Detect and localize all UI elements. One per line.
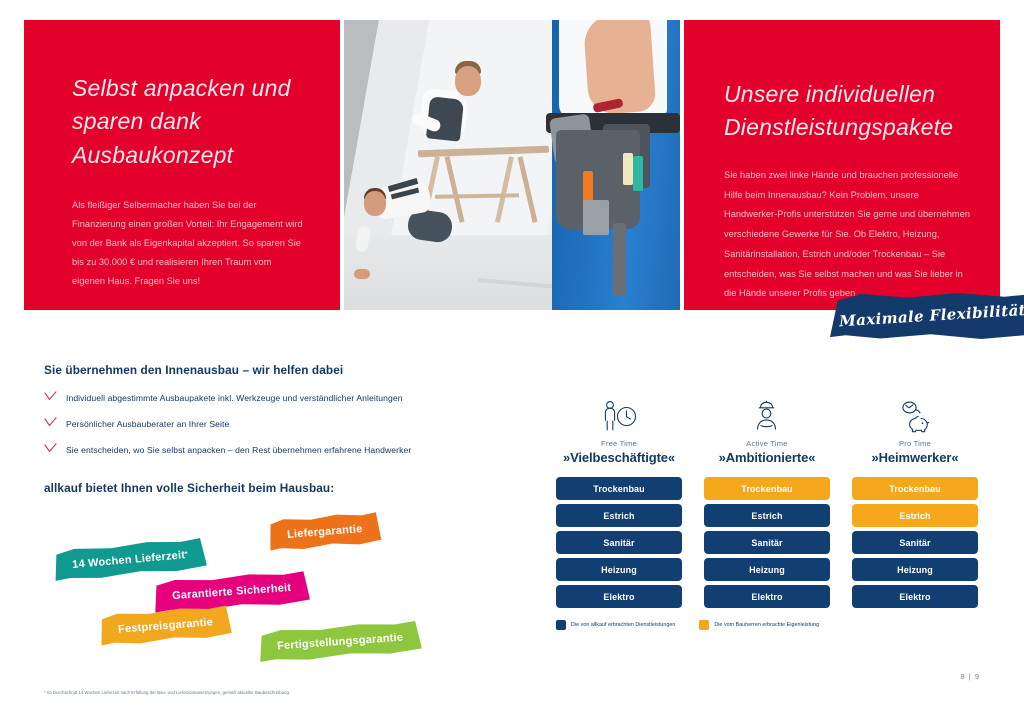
hero-right-title: Unsere individuellen Dienstleistungspake…	[724, 78, 974, 145]
package-row-sanitaer: Sanitär	[852, 531, 978, 554]
check-icon	[44, 391, 66, 402]
badge-footnote-marker: *	[185, 551, 189, 558]
package-row-trockenbau: Trockenbau	[556, 477, 682, 500]
list-item: Persönlicher Ausbauberater an Ihrer Seit…	[44, 418, 474, 431]
legend-item-eigenleistung: Die vom Bauherren erbrachte Eigenleistun…	[699, 620, 819, 630]
piggy-bank-icon	[852, 392, 978, 434]
page-number: 8 | 9	[961, 672, 980, 681]
package-column-ambitionierte: Active Time »Ambitionierte« Trockenbau E…	[704, 392, 830, 612]
photo-tool-pliers	[583, 200, 610, 235]
package-row-sanitaer: Sanitär	[704, 531, 830, 554]
badge-fertigstellungsgarantie: Fertigstellungsgarantie	[258, 619, 422, 663]
package-column-vielbeschaeftigte: Free Time »Vielbeschäftigte« Trockenbau …	[556, 392, 682, 612]
package-row-sanitaer: Sanitär	[556, 531, 682, 554]
package-title: »Ambitionierte«	[704, 450, 830, 465]
check-icon	[44, 443, 66, 454]
package-row-estrich: Estrich	[852, 504, 978, 527]
package-row-heizung: Heizung	[704, 558, 830, 581]
hero-panel-right: Unsere individuellen Dienstleistungspake…	[684, 20, 1000, 310]
hero-right-body: Sie haben zwei linke Hände und brauchen …	[724, 166, 974, 304]
badge-garantierte-sicherheit: Garantierte Sicherheit	[153, 570, 310, 615]
flexibility-banner: Maximale Flexibilität	[830, 292, 1024, 339]
hero-band: Selbst anpacken und sparen dank Ausbauko…	[24, 20, 1000, 310]
list-item: Individuell abgestimmte Ausbaupakete ink…	[44, 392, 474, 405]
check-icon	[44, 417, 66, 428]
photo-worker-kneeling-head	[364, 191, 386, 216]
badge-lieferzeit-label: 14 Wochen Lieferzeit	[72, 549, 186, 571]
package-subtitle: Active Time	[704, 439, 830, 448]
list-item-label: Individuell abgestimmte Ausbaupakete ink…	[66, 392, 403, 405]
list-item: Sie entscheiden, wo Sie selbst anpacken …	[44, 444, 474, 457]
list-item-label: Persönlicher Ausbauberater an Ihrer Seit…	[66, 418, 229, 431]
package-row-heizung: Heizung	[852, 558, 978, 581]
package-title: »Heimwerker«	[852, 450, 978, 465]
hero-photo	[344, 20, 680, 310]
section-heading-sicherheit: allkauf bietet Ihnen volle Sicherheit be…	[44, 481, 334, 495]
brochure-page: Selbst anpacken und sparen dank Ausbauko…	[0, 0, 1024, 725]
legend-label: Die vom Bauherren erbrachte Eigenleistun…	[714, 622, 819, 628]
hero-left-body: Als fleißiger Selbermacher haben Sie bei…	[72, 196, 306, 291]
badge-lieferzeit: 14 Wochen Lieferzeit*	[53, 536, 207, 582]
package-row-trockenbau: Trockenbau	[852, 477, 978, 500]
legend-swatch-blue	[556, 620, 566, 630]
photo-tool-hammer	[613, 223, 626, 296]
photo-tool-beige	[623, 153, 633, 185]
person-helmet-icon	[704, 392, 830, 434]
package-rows: Trockenbau Estrich Sanitär Heizung Elekt…	[556, 477, 682, 608]
package-row-elektro: Elektro	[556, 585, 682, 608]
package-row-estrich: Estrich	[556, 504, 682, 527]
photo-worker-kneeling-hand	[354, 269, 370, 279]
package-subtitle: Free Time	[556, 439, 682, 448]
package-subtitle: Pro Time	[852, 439, 978, 448]
package-title: »Vielbeschäftigte«	[556, 450, 682, 465]
photo-worker-standing-head	[455, 66, 481, 96]
photo-tool-teal	[633, 156, 643, 191]
person-clock-icon	[556, 392, 682, 434]
package-row-heizung: Heizung	[556, 558, 682, 581]
package-row-trockenbau: Trockenbau	[704, 477, 830, 500]
benefit-list: Individuell abgestimmte Ausbaupakete ink…	[44, 392, 474, 470]
section-heading-innenausbau: Sie übernehmen den Innenausbau – wir hel…	[44, 363, 343, 377]
package-rows: Trockenbau Estrich Sanitär Heizung Elekt…	[704, 477, 830, 608]
hero-left-title: Selbst anpacken und sparen dank Ausbauko…	[72, 72, 310, 172]
package-row-elektro: Elektro	[704, 585, 830, 608]
footnote: * Im Durchschnitt 14 Wochen Lieferzeit n…	[44, 690, 290, 695]
package-legend: Die von allkauf erbrachten Dienstleistun…	[556, 620, 819, 630]
package-row-estrich: Estrich	[704, 504, 830, 527]
package-row-elektro: Elektro	[852, 585, 978, 608]
badge-liefergarantie: Liefergarantie	[268, 511, 382, 553]
flexibility-banner-label: Maximale Flexibilität	[827, 300, 1024, 330]
list-item-label: Sie entscheiden, wo Sie selbst anpacken …	[66, 444, 411, 457]
package-rows: Trockenbau Estrich Sanitär Heizung Elekt…	[852, 477, 978, 608]
legend-item-dienstleistungen: Die von allkauf erbrachten Dienstleistun…	[556, 620, 675, 630]
service-packages: Free Time »Vielbeschäftigte« Trockenbau …	[556, 392, 978, 612]
hero-panel-left: Selbst anpacken und sparen dank Ausbauko…	[24, 20, 340, 310]
package-column-heimwerker: Pro Time »Heimwerker« Trockenbau Estrich…	[852, 392, 978, 612]
legend-label: Die von allkauf erbrachten Dienstleistun…	[571, 622, 675, 628]
guarantee-badges: Liefergarantie 14 Wochen Lieferzeit* Gar…	[44, 505, 464, 665]
legend-swatch-orange	[699, 620, 709, 630]
